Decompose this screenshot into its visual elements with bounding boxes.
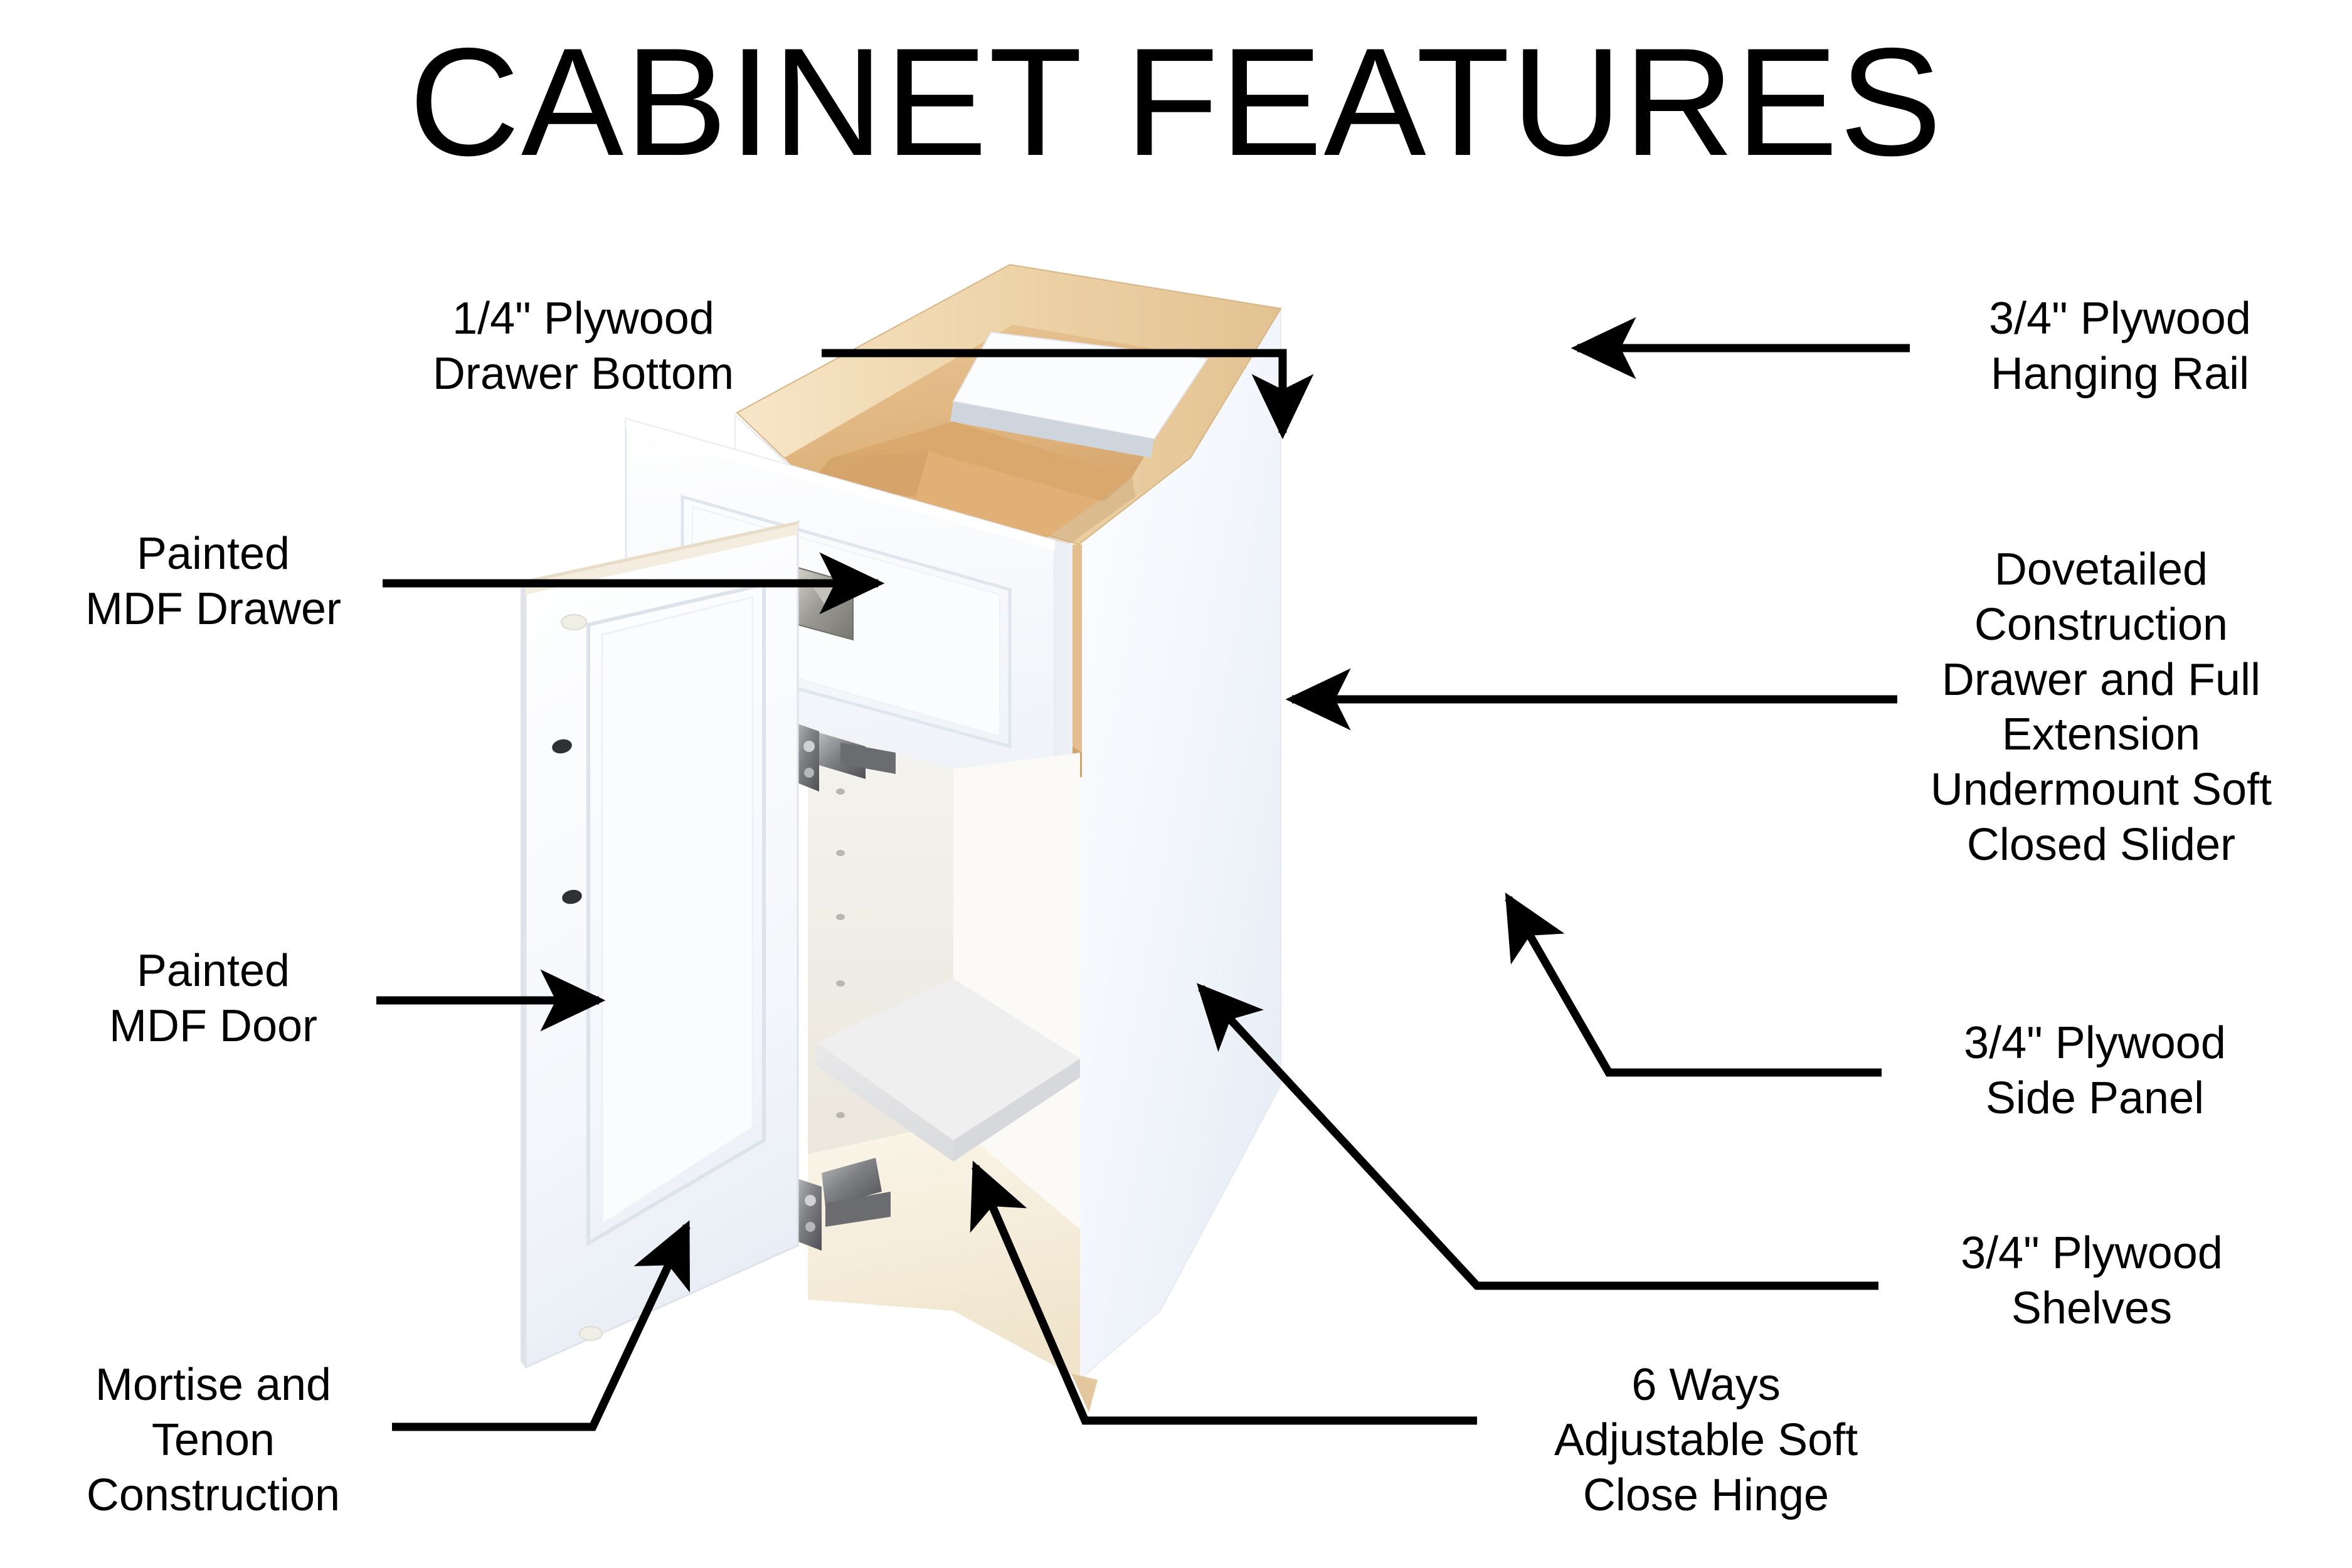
painted-mdf-door <box>521 521 800 1367</box>
callout-line: Drawer Bottom <box>351 347 815 402</box>
callout-plywood-hanging-rail: 3/4" Plywood Hanging Rail <box>1919 292 2321 402</box>
callout-line: Side Panel <box>1888 1071 2302 1126</box>
callout-line: Painted <box>38 944 389 999</box>
callout-adjustable-soft-close-hinge: 6 Ways Adjustable Soft Close Hinge <box>1486 1358 1926 1523</box>
callout-line: Undermount Soft <box>1882 763 2321 818</box>
callout-line: Closed Slider <box>1882 818 2321 873</box>
callout-plywood-drawer-bottom: 1/4" Plywood Drawer Bottom <box>351 292 815 402</box>
callout-line: Close Hinge <box>1486 1468 1926 1523</box>
callout-line: Mortise and <box>38 1358 389 1413</box>
callout-plywood-shelves: 3/4" Plywood Shelves <box>1885 1226 2299 1337</box>
callout-mortise-and-tenon: Mortise and Tenon Construction <box>38 1358 389 1523</box>
callout-line: 3/4" Plywood <box>1885 1226 2299 1281</box>
callout-line: Tenon <box>38 1413 389 1468</box>
callout-line: Construction <box>1882 598 2321 653</box>
poster-canvas: CABINET FEATURES <box>0 0 2352 1568</box>
callout-line: 3/4" Plywood <box>1919 292 2321 347</box>
callout-line: 1/4" Plywood <box>351 292 815 347</box>
callout-plywood-side-panel: 3/4" Plywood Side Panel <box>1888 1016 2302 1126</box>
callout-line: Painted <box>38 527 389 582</box>
callout-line: Extension <box>1882 707 2321 763</box>
callout-line: Drawer and Full <box>1882 653 2321 708</box>
callout-line: Construction <box>38 1468 389 1523</box>
callout-painted-mdf-door: Painted MDF Door <box>38 944 389 1054</box>
callout-dovetailed-construction: Dovetailed Construction Drawer and Full … <box>1882 543 2321 873</box>
cabinet-photo <box>514 251 1706 1443</box>
callout-line: 3/4" Plywood <box>1888 1016 2302 1071</box>
page-title: CABINET FEATURES <box>0 25 2352 179</box>
callout-line: Shelves <box>1885 1281 2299 1337</box>
callout-line: MDF Door <box>38 999 389 1054</box>
callout-line: Adjustable Soft <box>1486 1413 1926 1468</box>
callout-painted-mdf-drawer: Painted MDF Drawer <box>38 527 389 637</box>
callout-line: Dovetailed <box>1882 543 2321 598</box>
callout-line: 6 Ways <box>1486 1358 1926 1413</box>
callout-line: MDF Drawer <box>38 582 389 637</box>
callout-line: Hanging Rail <box>1919 347 2321 402</box>
